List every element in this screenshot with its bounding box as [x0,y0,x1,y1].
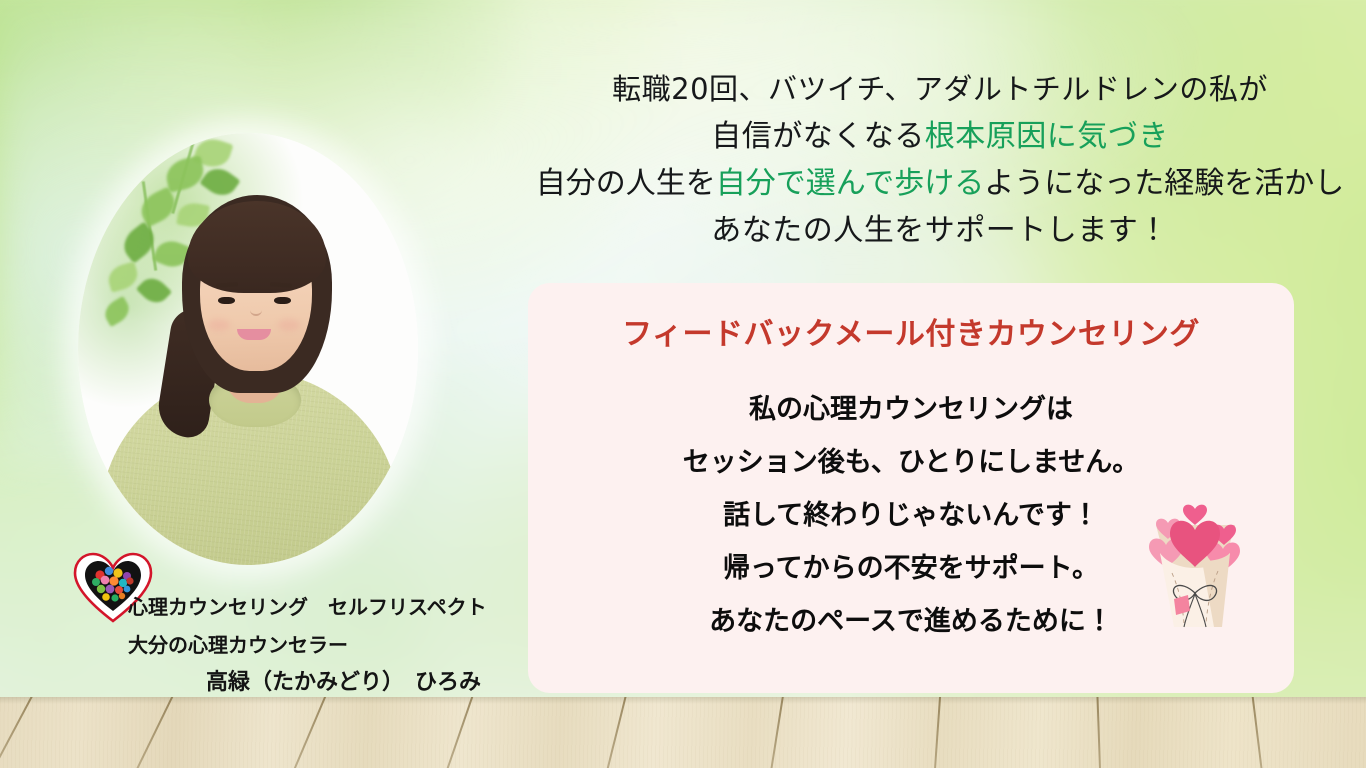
headline-line-3-highlight: 自分で選んで歩ける [716,166,985,201]
headline-line-3-plain-a: 自分の人生を [536,166,716,201]
plank-seam [601,697,630,768]
plank-seam [0,697,40,768]
plank-seam [1250,697,1265,768]
offer-card-title: フィードバックメール付きカウンセリング [528,309,1294,353]
headline-line-4: あなたの人生をサポートします！ [500,207,1366,254]
plank-seam [287,697,332,768]
caption-line-name: 高緑（たかみどり） ひろみ [128,664,558,702]
caption-line-role: 大分の心理カウンセラー [128,626,558,664]
counselor-caption: 心理カウンセリング セルフリスペクト 大分の心理カウンセラー 高緑（たかみどり）… [128,588,558,702]
counselor-portrait-photo [78,133,418,565]
headline-line-2: 自信がなくなる根本原因に気づき [500,113,1366,160]
plank-seam [440,697,478,768]
heart-bouquet-icon [1140,487,1250,649]
wood-floor [0,697,1366,768]
cheek-left [208,319,230,331]
banner-canvas: 転職20回、バツイチ、アダルトチルドレンの私が 自信がなくなる根本原因に気づき … [0,0,1366,768]
cheek-right [278,319,300,331]
offer-body-line-1: 私の心理カウンセリングは [528,383,1294,436]
eye-left [218,297,235,304]
plank-seam [932,697,942,768]
caption-line-service: 心理カウンセリング セルフリスペクト [128,588,558,626]
eye-right [274,297,291,304]
plank-seam [1096,697,1102,768]
headline-block: 転職20回、バツイチ、アダルトチルドレンの私が 自信がなくなる根本原因に気づき … [500,66,1366,254]
plank-seam [130,697,180,768]
headline-line-1: 転職20回、バツイチ、アダルトチルドレンの私が [500,66,1366,113]
headline-line-2-plain: 自信がなくなる [711,119,925,154]
offer-body-line-2: セッション後も、ひとりにしません。 [528,436,1294,489]
headline-line-3: 自分の人生を自分で選んで歩けるようになった経験を活かし [500,160,1366,207]
headline-line-2-highlight: 根本原因に気づき [925,119,1169,154]
headline-line-3-plain-b: ようになった経験を活かし [984,166,1344,201]
plank-seam [767,697,786,768]
